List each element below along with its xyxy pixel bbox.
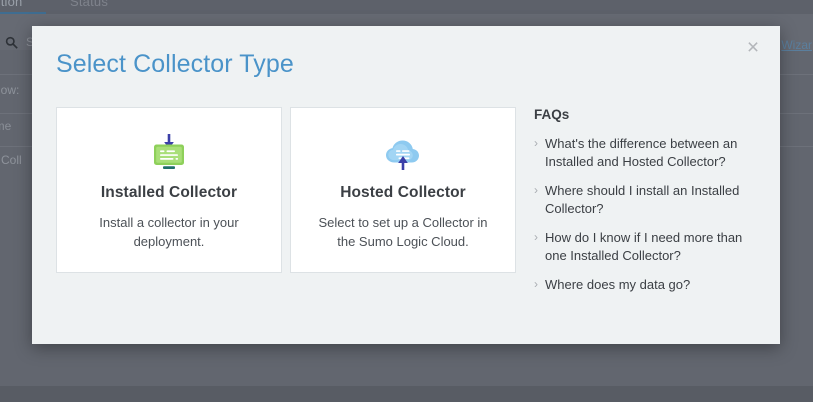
background-footer bbox=[0, 386, 813, 402]
card-title: Installed Collector bbox=[57, 184, 281, 202]
column-header-name: ame bbox=[0, 119, 11, 133]
no-collectors-message: o Coll bbox=[0, 153, 22, 167]
faq-section: FAQs › What's the difference between an … bbox=[534, 107, 762, 306]
faq-item[interactable]: › Where does my data go? bbox=[534, 276, 762, 294]
faq-item[interactable]: › What's the difference between an Insta… bbox=[534, 135, 762, 170]
faq-heading: FAQs bbox=[534, 107, 762, 122]
collector-type-card-list: Installed Collector Install a collector … bbox=[56, 107, 516, 273]
faq-item-label: Where should I install an Installed Coll… bbox=[545, 182, 762, 217]
background-tab-bar: ction Status bbox=[0, 0, 813, 14]
card-hosted-collector[interactable]: Hosted Collector Select to set up a Coll… bbox=[290, 107, 516, 273]
card-description: Install a collector in your deployment. bbox=[79, 213, 259, 251]
chevron-right-icon: › bbox=[534, 182, 545, 199]
chevron-right-icon: › bbox=[534, 135, 545, 152]
faq-item[interactable]: › How do I know if I need more than one … bbox=[534, 229, 762, 264]
card-installed-collector[interactable]: Installed Collector Install a collector … bbox=[56, 107, 282, 273]
chevron-right-icon: › bbox=[534, 276, 545, 293]
search-icon[interactable] bbox=[5, 36, 18, 49]
dialog-title: Select Collector Type bbox=[56, 50, 294, 79]
faq-item[interactable]: › Where should I install an Installed Co… bbox=[534, 182, 762, 217]
select-collector-type-dialog: × Select Collector Type bbox=[32, 26, 780, 344]
show-label: how: bbox=[0, 83, 19, 97]
tab-collection[interactable]: ction bbox=[0, 0, 22, 9]
faq-item-label: How do I know if I need more than one In… bbox=[545, 229, 762, 264]
installed-collector-monitor-download-icon bbox=[57, 130, 281, 176]
faq-item-label: What's the difference between an Install… bbox=[545, 135, 762, 170]
tab-status[interactable]: Status bbox=[70, 0, 108, 9]
faq-item-label: Where does my data go? bbox=[545, 276, 690, 294]
setup-wizard-link[interactable]: Wizar bbox=[781, 38, 812, 52]
hosted-collector-cloud-upload-icon bbox=[291, 130, 515, 176]
chevron-right-icon: › bbox=[534, 229, 545, 246]
card-title: Hosted Collector bbox=[291, 184, 515, 202]
close-icon[interactable]: × bbox=[740, 34, 766, 60]
card-description: Select to set up a Collector in the Sumo… bbox=[313, 213, 493, 251]
